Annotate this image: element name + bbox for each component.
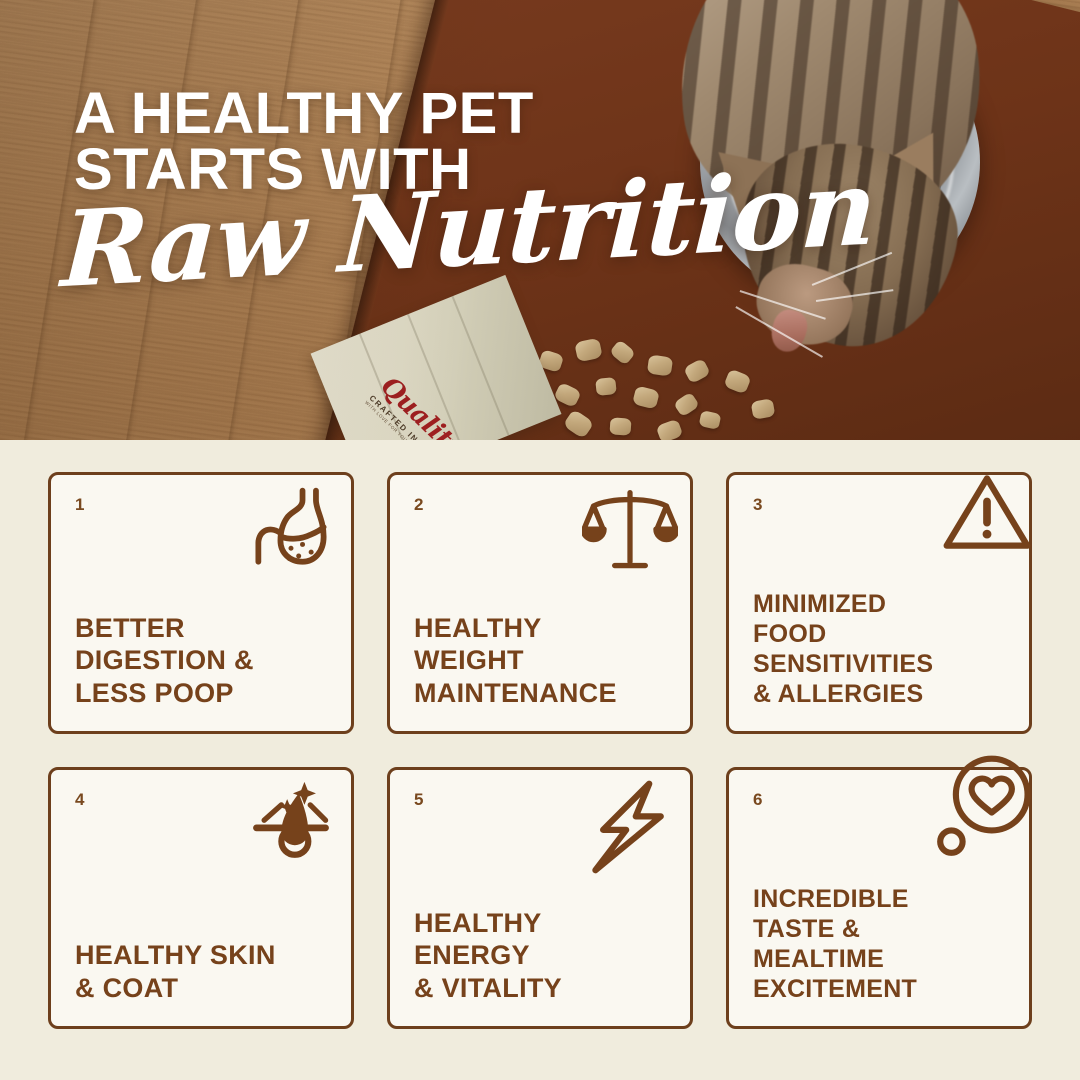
benefit-text: HEALTHY ENERGY & VITALITY [414,907,666,1004]
balance-scale-icon [582,483,678,579]
benefit-text: HEALTHY SKIN & COAT [75,939,327,1004]
benefit-card-6[interactable]: 6 INCREDIBLE TASTE & MEALTIME EXCITEMENT [726,767,1032,1029]
benefits-grid: 1 BETTER DIGESTION & LESS POOP 2 [48,472,1032,1030]
headline-line-1: A HEALTHY PET [74,86,534,142]
benefit-number: 3 [753,495,763,515]
benefit-card-3[interactable]: 3 MINIMIZED FOOD SENSITIVITIES & ALLERGI… [726,472,1032,734]
heart-chat-bubble-icon [929,752,1041,864]
kibble-piece [595,377,617,396]
benefit-number: 4 [75,790,85,810]
benefit-card-4[interactable]: 4 HEALTHY SKIN & COAT [48,767,354,1029]
kibble-piece [647,354,673,376]
benefit-number: 1 [75,495,85,515]
benefit-text: INCREDIBLE TASTE & MEALTIME EXCITEMENT [753,884,1005,1004]
bag-fold [452,296,510,436]
benefit-card-2[interactable]: 2 HEALTHY WEIGHT MAINTENANCE [387,472,693,734]
stomach-icon [243,483,339,579]
benefit-number: 5 [414,790,424,810]
benefit-number: 2 [414,495,424,515]
warning-triangle-icon [939,465,1035,561]
hair-follicle-sparkle-icon [243,778,339,874]
benefit-card-5[interactable]: 5 HEALTHY ENERGY & VITALITY [387,767,693,1029]
bag-label: Quality CRAFTED IN THE U.S.A. WITH LOVE … [364,371,486,440]
lightning-bolt-icon [582,778,678,874]
benefit-text: BETTER DIGESTION & LESS POOP [75,612,327,709]
kibble-piece [609,417,631,435]
benefit-text: HEALTHY WEIGHT MAINTENANCE [414,612,666,709]
benefit-card-1[interactable]: 1 BETTER DIGESTION & LESS POOP [48,472,354,734]
benefit-text: MINIMIZED FOOD SENSITIVITIES & ALLERGIES [753,589,1005,709]
benefit-number: 6 [753,790,763,810]
poster-root: Quality CRAFTED IN THE U.S.A. WITH LOVE … [0,0,1080,1080]
